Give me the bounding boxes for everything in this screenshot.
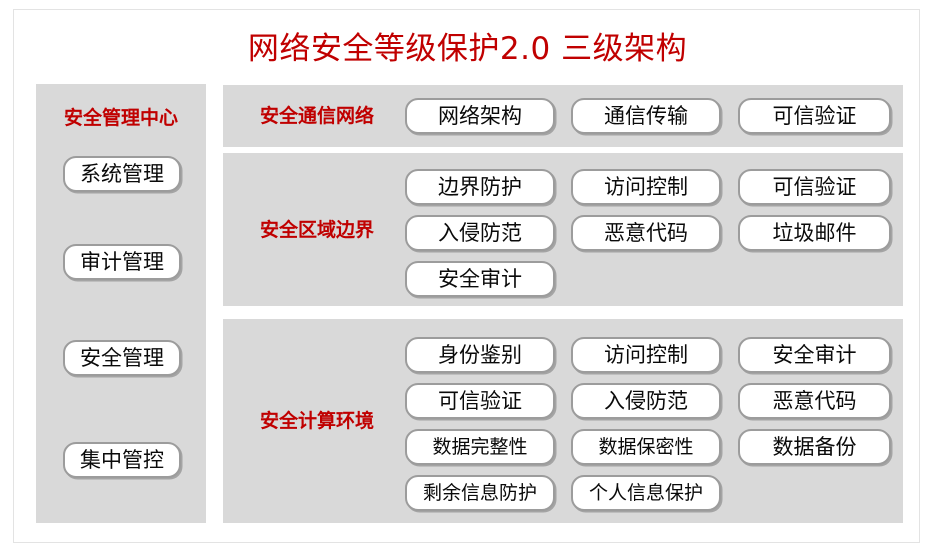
sidebar-item-security-management[interactable]: 安全管理	[63, 340, 181, 376]
diagram-card: 网络安全等级保护2.0 三级架构 安全管理中心 系统管理 审计管理 安全管理 集…	[13, 9, 920, 543]
sidebar-item-centralized-control[interactable]: 集中管控	[63, 442, 181, 478]
section-label-secure-communication-network: 安全通信网络	[237, 104, 397, 128]
item-boundary-protection[interactable]: 边界防护	[405, 169, 555, 205]
sidebar-item-audit-management[interactable]: 审计管理	[63, 244, 181, 280]
secure-communication-network-block: 安全通信网络 网络架构 通信传输 可信验证	[223, 85, 903, 147]
item-access-control[interactable]: 访问控制	[571, 337, 721, 373]
item-network-architecture[interactable]: 网络架构	[405, 98, 555, 134]
item-malicious-code[interactable]: 恶意代码	[571, 215, 721, 251]
item-trusted-verification[interactable]: 可信验证	[405, 383, 555, 419]
item-spam-email[interactable]: 垃圾邮件	[738, 215, 891, 251]
sidebar-title: 安全管理中心	[36, 106, 206, 130]
item-residual-information-protection[interactable]: 剩余信息防护	[405, 475, 555, 511]
item-access-control[interactable]: 访问控制	[571, 169, 721, 205]
item-trusted-verification[interactable]: 可信验证	[738, 98, 891, 134]
item-communication-transmission[interactable]: 通信传输	[571, 98, 721, 134]
item-data-confidentiality[interactable]: 数据保密性	[571, 429, 721, 465]
item-data-integrity[interactable]: 数据完整性	[405, 429, 555, 465]
item-intrusion-prevention[interactable]: 入侵防范	[405, 215, 555, 251]
item-security-audit[interactable]: 安全审计	[405, 261, 555, 297]
item-trusted-verification[interactable]: 可信验证	[738, 169, 891, 205]
secure-computing-environment-block: 安全计算环境 身份鉴别 访问控制 安全审计 可信验证 入侵防范 恶意代码 数据完…	[223, 319, 903, 523]
item-data-backup[interactable]: 数据备份	[738, 429, 891, 465]
item-identity-authentication[interactable]: 身份鉴别	[405, 337, 555, 373]
item-personal-information-protection[interactable]: 个人信息保护	[571, 475, 721, 511]
item-intrusion-prevention[interactable]: 入侵防范	[571, 383, 721, 419]
sidebar-item-system-management[interactable]: 系统管理	[63, 156, 181, 192]
page-title: 网络安全等级保护2.0 三级架构	[14, 30, 921, 68]
item-malicious-code[interactable]: 恶意代码	[738, 383, 891, 419]
section-label-secure-computing-environment: 安全计算环境	[237, 409, 397, 433]
secure-area-boundary-block: 安全区域边界 边界防护 访问控制 可信验证 入侵防范 恶意代码 垃圾邮件 安全审…	[223, 153, 903, 306]
section-label-secure-area-boundary: 安全区域边界	[237, 218, 397, 242]
item-security-audit[interactable]: 安全审计	[738, 337, 891, 373]
security-management-center-block: 安全管理中心 系统管理 审计管理 安全管理 集中管控	[36, 84, 206, 523]
